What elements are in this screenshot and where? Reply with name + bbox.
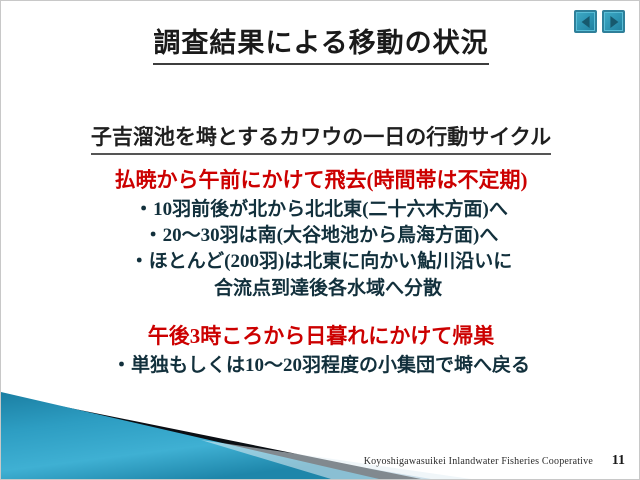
list-item: ・10羽前後が北から北北東(二十六木方面)へ [1, 197, 640, 223]
list-item-text: ・20～30羽は南(大谷地池から鳥海方面)へ [144, 225, 499, 246]
slide-body: 払暁から午前にかけて飛去(時間帯は不定期) ・10羽前後が北から北北東(二十六木… [1, 167, 640, 379]
list-item-text: ・単独もしくは10～20羽程度の小集団で塒へ戻る [112, 355, 530, 376]
footer-organization-label: Koyoshigawasuikei Inlandwater Fisheries … [1, 456, 593, 467]
section-bullet-list: ・単独もしくは10～20羽程度の小集団で塒へ戻る [1, 353, 640, 379]
slide-title: 調査結果による移動の状況 [1, 21, 640, 65]
light-wedge-shape [1, 406, 431, 479]
presentation-slide: 調査結果による移動の状況 子吉溜池を塒とするカワウの一日の行動サイクル 払暁から… [0, 0, 640, 480]
section-spacer [1, 302, 640, 323]
left-triangle-icon [581, 16, 589, 28]
slide-navigation-controls [574, 10, 625, 33]
list-item: ・単独もしくは10～20羽程度の小集団で塒へ戻る [1, 353, 640, 379]
slide-page-number: 11 [612, 453, 625, 469]
slide-title-text: 調査結果による移動の状況 [153, 21, 488, 65]
section-heading: 午後3時ころから日暮れにかけて帰巣 [1, 323, 640, 350]
right-triangle-icon [610, 16, 618, 28]
list-item-text: ・ほとんど(200羽)は北東に向かい鮎川沿いに [130, 251, 513, 272]
list-item-text: ・10羽前後が北から北北東(二十六木方面)へ [134, 199, 508, 220]
list-item-text: 合流点到達後各水域へ分散 [200, 276, 442, 302]
previous-slide-button[interactable] [574, 10, 597, 33]
slide-subtitle: 子吉溜池を塒とするカワウの一日の行動サイクル [1, 121, 640, 155]
next-slide-button[interactable] [602, 10, 625, 33]
section-heading: 払暁から午前にかけて飛去(時間帯は不定期) [1, 167, 640, 194]
list-item: ・20～30羽は南(大谷地池から鳥海方面)へ [1, 223, 640, 249]
section-evening-return: 午後3時ころから日暮れにかけて帰巣 ・単独もしくは10～20羽程度の小集団で塒へ… [1, 323, 640, 379]
slide-subtitle-text: 子吉溜池を塒とするカワウの一日の行動サイクル [91, 121, 551, 155]
section-morning-departure: 払暁から午前にかけて飛去(時間帯は不定期) ・10羽前後が北から北北東(二十六木… [1, 167, 640, 302]
list-item: ・ほとんど(200羽)は北東に向かい鮎川沿いに [1, 249, 640, 275]
section-bullet-list: ・10羽前後が北から北北東(二十六木方面)へ ・20～30羽は南(大谷地池から鳥… [1, 197, 640, 302]
list-item-continuation: 合流点到達後各水域へ分散 [1, 276, 640, 302]
